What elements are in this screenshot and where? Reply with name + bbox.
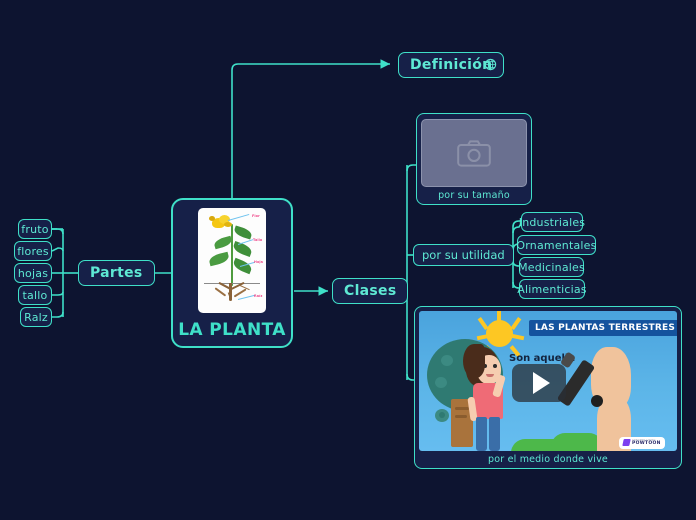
branch-label: Definición xyxy=(410,57,492,73)
leaf-label: hojas xyxy=(18,267,48,280)
plant-label-raiz: Raíz xyxy=(254,294,262,298)
leaf-label: Alimenticias xyxy=(517,283,586,296)
node-por-su-utilidad[interactable]: por su utilidad xyxy=(413,244,514,266)
leaf-alimenticias[interactable]: Alimenticias xyxy=(519,279,585,299)
media-caption: por el medio donde vive xyxy=(488,451,608,468)
central-title: LA PLANTA xyxy=(178,320,286,340)
leaf-hojas[interactable]: hojas xyxy=(14,263,52,283)
leaf-label: Medicinales xyxy=(518,261,585,274)
leaf-label: fruto xyxy=(21,223,48,236)
media-caption: por su tamaño xyxy=(438,187,510,204)
camera-icon xyxy=(457,140,491,167)
video-title: LAS PLANTAS TERRESTRES xyxy=(529,320,677,336)
image-placeholder[interactable] xyxy=(421,119,527,187)
globe-icon[interactable] xyxy=(484,58,497,71)
node-label: por su utilidad xyxy=(422,248,505,262)
plant-label-tallo: Tallo xyxy=(253,238,262,242)
leaf-label: tallo xyxy=(23,289,48,302)
branch-clases[interactable]: Clases xyxy=(332,278,408,304)
plant-diagram-image: Flor Tallo Hoja Raíz xyxy=(198,208,266,313)
powtoon-watermark: CREATED USING POWTOON xyxy=(619,437,665,449)
video-thumbnail[interactable]: LAS PLANTAS TERRESTRES Son aquella xyxy=(419,311,677,451)
powtoon-logo-icon xyxy=(622,439,630,446)
plant-label-flor: Flor xyxy=(252,214,260,218)
central-node-la-planta[interactable]: Flor Tallo Hoja Raíz LA PLANTA xyxy=(171,198,293,348)
mindmap-canvas: fruto flores hojas tallo Ralz Partes xyxy=(0,0,696,520)
leaf-fruto[interactable]: fruto xyxy=(18,219,52,239)
branch-label: Partes xyxy=(90,265,143,281)
leaf-raiz[interactable]: Ralz xyxy=(20,307,52,327)
branch-label: Clases xyxy=(344,283,396,299)
leaf-label: Ornamentales xyxy=(516,239,596,252)
media-node-por-el-medio-donde-vive[interactable]: LAS PLANTAS TERRESTRES Son aquella xyxy=(414,306,682,469)
leaf-ornamentales[interactable]: Ornamentales xyxy=(517,235,596,255)
plant-label-hoja: Hoja xyxy=(254,260,263,264)
leaf-tallo[interactable]: tallo xyxy=(18,285,52,305)
play-button[interactable] xyxy=(512,364,566,402)
watermark-text: POWTOON xyxy=(632,442,661,447)
branch-partes[interactable]: Partes xyxy=(78,260,155,286)
media-node-por-su-tamano[interactable]: por su tamaño xyxy=(416,113,532,205)
leaf-flores[interactable]: flores xyxy=(14,241,52,261)
leaf-industriales[interactable]: Industriales xyxy=(521,212,583,232)
leaf-label: Ralz xyxy=(24,311,48,324)
leaf-medicinales[interactable]: Medicinales xyxy=(519,257,584,277)
leaf-label: flores xyxy=(17,245,49,258)
leaf-label: Industriales xyxy=(519,216,586,229)
